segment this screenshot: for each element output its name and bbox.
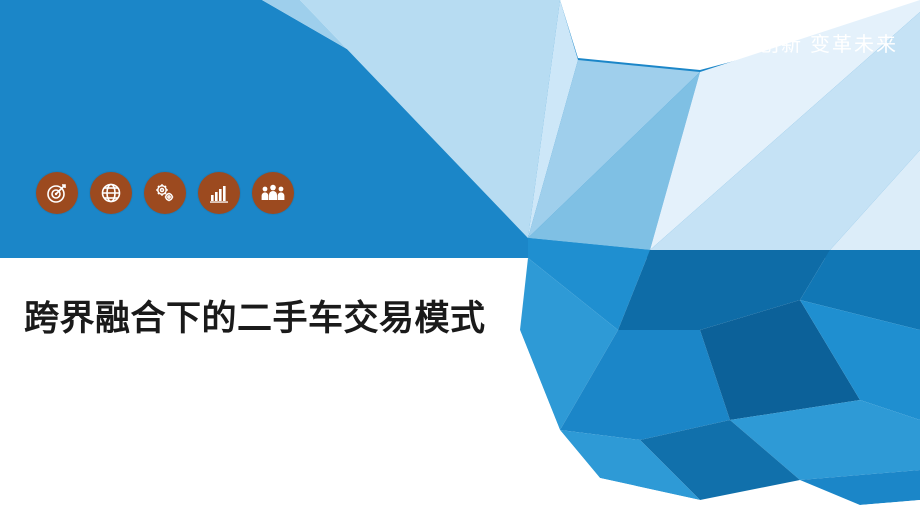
- globe-icon: [90, 172, 132, 214]
- gears-icon: [144, 172, 186, 214]
- presentation-slide: 数智创新 变革未来: [0, 0, 920, 518]
- title-block: 跨界融合下的二手车交易模式: [24, 296, 544, 343]
- background-polygon-art: [0, 0, 920, 518]
- icon-strip: [36, 172, 294, 214]
- target-arrow-icon: [36, 172, 78, 214]
- slide-tagline: 数智创新 变革未来: [715, 28, 898, 57]
- people-group-icon: [252, 172, 294, 214]
- bar-chart-icon: [198, 172, 240, 214]
- page-title: 跨界融合下的二手车交易模式: [24, 296, 544, 343]
